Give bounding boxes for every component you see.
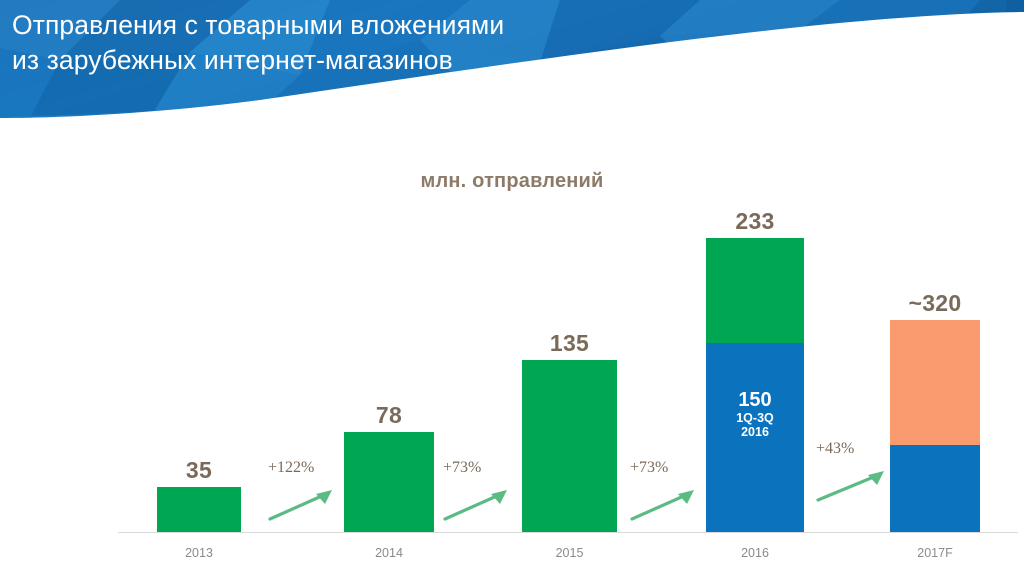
header-banner: Отправления с товарными вложениями из за… [0,0,1024,120]
bar-segment-green-2016[interactable] [706,238,804,343]
bar-segment-green-2013[interactable] [157,487,241,532]
bar-group-2016: 233 150 1Q-3Q 2016 2016 [706,238,804,532]
bar-inner-label-2016: 150 1Q-3Q 2016 [706,389,804,439]
bar-stack-2016: 150 1Q-3Q 2016 [706,238,804,532]
growth-arrow-icon-2013-2014 [268,485,336,523]
bar-stack-2013 [157,487,241,532]
bar-stack-2014 [344,432,434,532]
bar-total-label-2013: 35 [127,457,271,484]
bar-inner-period-2016: 1Q-3Q [706,411,804,425]
x-axis-label-2014: 2014 [304,546,474,560]
growth-annotation-2016-2017f: +43% [816,440,888,494]
bar-group-2017f: ~320 214 1Q-3Q 2017 2017F [890,320,980,532]
growth-annotation-2013-2014: +122% [268,459,340,513]
bar-total-label-2015: 135 [492,330,647,357]
bar-segment-blue-2017f[interactable]: 214 1Q-3Q 2017 [890,445,980,532]
x-axis-label-2015: 2015 [482,546,657,560]
bar-chart: млн. отправлений 35 2013 78 2014 135 201… [0,120,1024,562]
x-axis-label-2017f: 2017F [850,546,1020,560]
bar-group-2014: 78 2014 [344,432,434,532]
growth-label-2014-2015: +73% [443,459,481,477]
bar-group-2013: 35 2013 [157,487,241,532]
x-axis-label-2016: 2016 [666,546,844,560]
bar-segment-orange-2017f[interactable] [890,320,980,445]
bar-segment-blue-2016[interactable]: 150 1Q-3Q 2016 [706,343,804,532]
bar-segment-green-2014[interactable] [344,432,434,532]
x-axis-baseline [118,532,1018,533]
page-title: Отправления с товарными вложениями из за… [12,8,772,78]
growth-arrow-icon-2016-2017f [816,466,888,504]
bar-stack-2017f: 214 1Q-3Q 2017 [890,320,980,532]
bar-inner-value-2016: 150 [706,389,804,411]
growth-label-2015-2016: +73% [630,459,668,477]
bar-segment-green-2015[interactable] [522,360,617,532]
bar-group-2015: 135 2015 [522,360,617,532]
x-axis-label-2013: 2013 [117,546,281,560]
growth-label-2013-2014: +122% [268,459,314,477]
bar-total-label-2014: 78 [314,402,464,429]
growth-annotation-2014-2015: +73% [443,459,515,513]
growth-annotation-2015-2016: +73% [630,459,702,513]
bar-inner-year-2017f: 2017 [890,566,980,580]
growth-arrow-icon-2014-2015 [443,485,511,523]
bar-total-label-2016: 233 [676,208,834,235]
chart-subtitle: млн. отправлений [0,170,1024,193]
growth-label-2016-2017f: +43% [816,440,854,458]
bar-inner-year-2016: 2016 [706,425,804,439]
bar-stack-2015 [522,360,617,532]
growth-arrow-icon-2015-2016 [630,485,698,523]
bar-total-label-2017f: ~320 [860,290,1010,317]
